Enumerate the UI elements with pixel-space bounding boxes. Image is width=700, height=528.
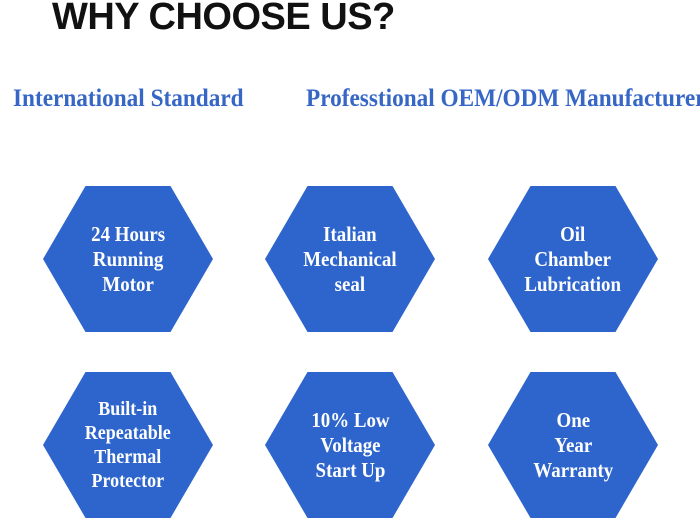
why-choose-us-infographic: WHY CHOOSE US? International Standard Pr… — [0, 0, 700, 528]
feature-hexagon-grid: 24 Hours Running Motor Italian Mechanica… — [0, 0, 700, 528]
feature-hexagon-24-hours-running-motor: 24 Hours Running Motor — [43, 186, 213, 332]
feature-hexagon-label: Oil Chamber Lubrication — [521, 222, 625, 297]
feature-hexagon-label: One Year Warranty — [530, 408, 617, 483]
feature-hexagon-label: Built-in Repeatable Thermal Protector — [81, 397, 174, 493]
feature-hexagon-built-in-repeatable-thermal-protector: Built-in Repeatable Thermal Protector — [43, 372, 213, 518]
feature-hexagon-label: 24 Hours Running Motor — [87, 222, 168, 297]
feature-hexagon-label: 10% Low Voltage Start Up — [307, 408, 392, 483]
feature-hexagon-one-year-warranty: One Year Warranty — [488, 372, 658, 518]
feature-hexagon-label: Italian Mechanical seal — [300, 222, 401, 297]
feature-hexagon-oil-chamber-lubrication: Oil Chamber Lubrication — [488, 186, 658, 332]
feature-hexagon-10-percent-low-voltage-start-up: 10% Low Voltage Start Up — [265, 372, 435, 518]
feature-hexagon-italian-mechanical-seal: Italian Mechanical seal — [265, 186, 435, 332]
